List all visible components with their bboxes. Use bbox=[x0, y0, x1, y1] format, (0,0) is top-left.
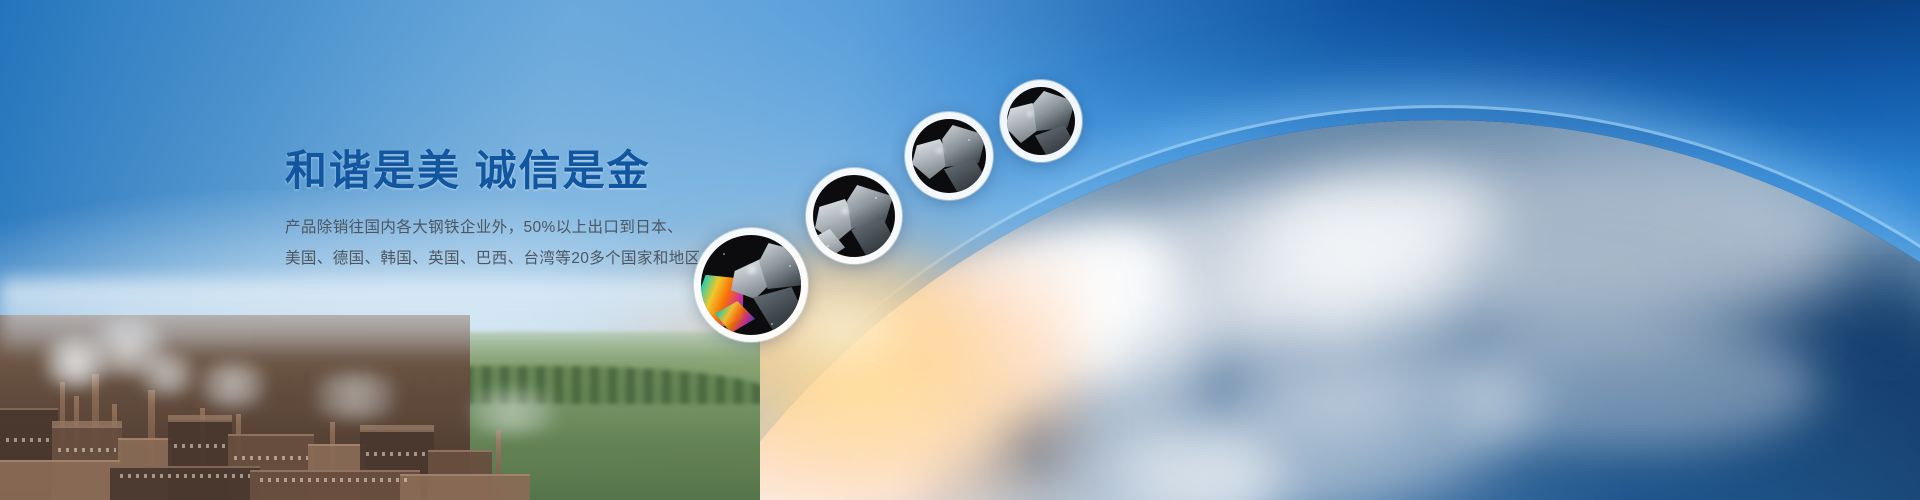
crushed-ore-rock-sample bbox=[813, 175, 895, 257]
hero-banner: 和谐是美 诚信是金 产品除销往国内各大钢铁企业外，50%以上出口到日本、 美国、… bbox=[0, 0, 1920, 500]
ore-badge-2[interactable] bbox=[806, 168, 902, 264]
ore-badge-4[interactable] bbox=[1000, 80, 1082, 162]
ore-texture bbox=[813, 175, 895, 257]
grey-ore-chunk-sample bbox=[912, 119, 986, 193]
ore-badge-1[interactable] bbox=[694, 228, 808, 342]
subtitle-line-1: 产品除销往国内各大钢铁企业外，50%以上出口到日本、 bbox=[285, 212, 755, 244]
page-title: 和谐是美 诚信是金 bbox=[285, 146, 755, 196]
ore-texture bbox=[912, 119, 986, 193]
industrial-landscape bbox=[0, 265, 760, 500]
ore-texture bbox=[1007, 87, 1075, 155]
banner-copy: 和谐是美 诚信是金 产品除销往国内各大钢铁企业外，50%以上出口到日本、 美国、… bbox=[285, 146, 755, 275]
banner-subtitle: 产品除销往国内各大钢铁企业外，50%以上出口到日本、 美国、德国、韩国、英国、巴… bbox=[285, 212, 755, 276]
valley-fog bbox=[0, 280, 760, 350]
subtitle-line-2: 美国、德国、韩国、英国、巴西、台湾等20多个国家和地区... bbox=[285, 243, 755, 275]
iron-ore-iridescent-sample bbox=[701, 235, 801, 335]
ore-badge-3[interactable] bbox=[905, 112, 993, 200]
ore-texture bbox=[701, 235, 801, 335]
dark-ore-fragment-sample bbox=[1007, 87, 1075, 155]
